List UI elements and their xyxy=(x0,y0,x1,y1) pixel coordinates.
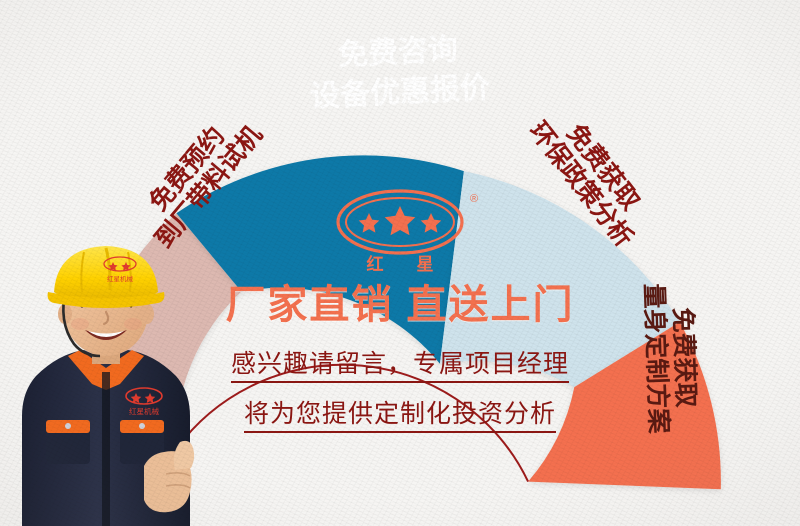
promo-banner: ® 红 星 免费预约 到厂带料试机 免费咨询 设备优惠报价 免费获取 环保政策分… xyxy=(0,0,800,526)
registered-mark-icon: ® xyxy=(470,193,478,205)
subline-1-text: 感兴趣请留言，专属项目经理 xyxy=(231,350,569,383)
helmet-logo-text: 红星机械 xyxy=(107,274,134,283)
worker-photo: 红星机械 xyxy=(0,236,228,526)
arc-label-free-consult[interactable]: 免费咨询 设备优惠报价 xyxy=(293,31,505,115)
uniform-badge-text: 红星机械 xyxy=(129,406,159,416)
logo-stars xyxy=(359,206,442,235)
worker-helmet: 红星机械 xyxy=(48,246,165,308)
subline-2-text: 将为您提供定制化投资分析 xyxy=(244,400,556,433)
